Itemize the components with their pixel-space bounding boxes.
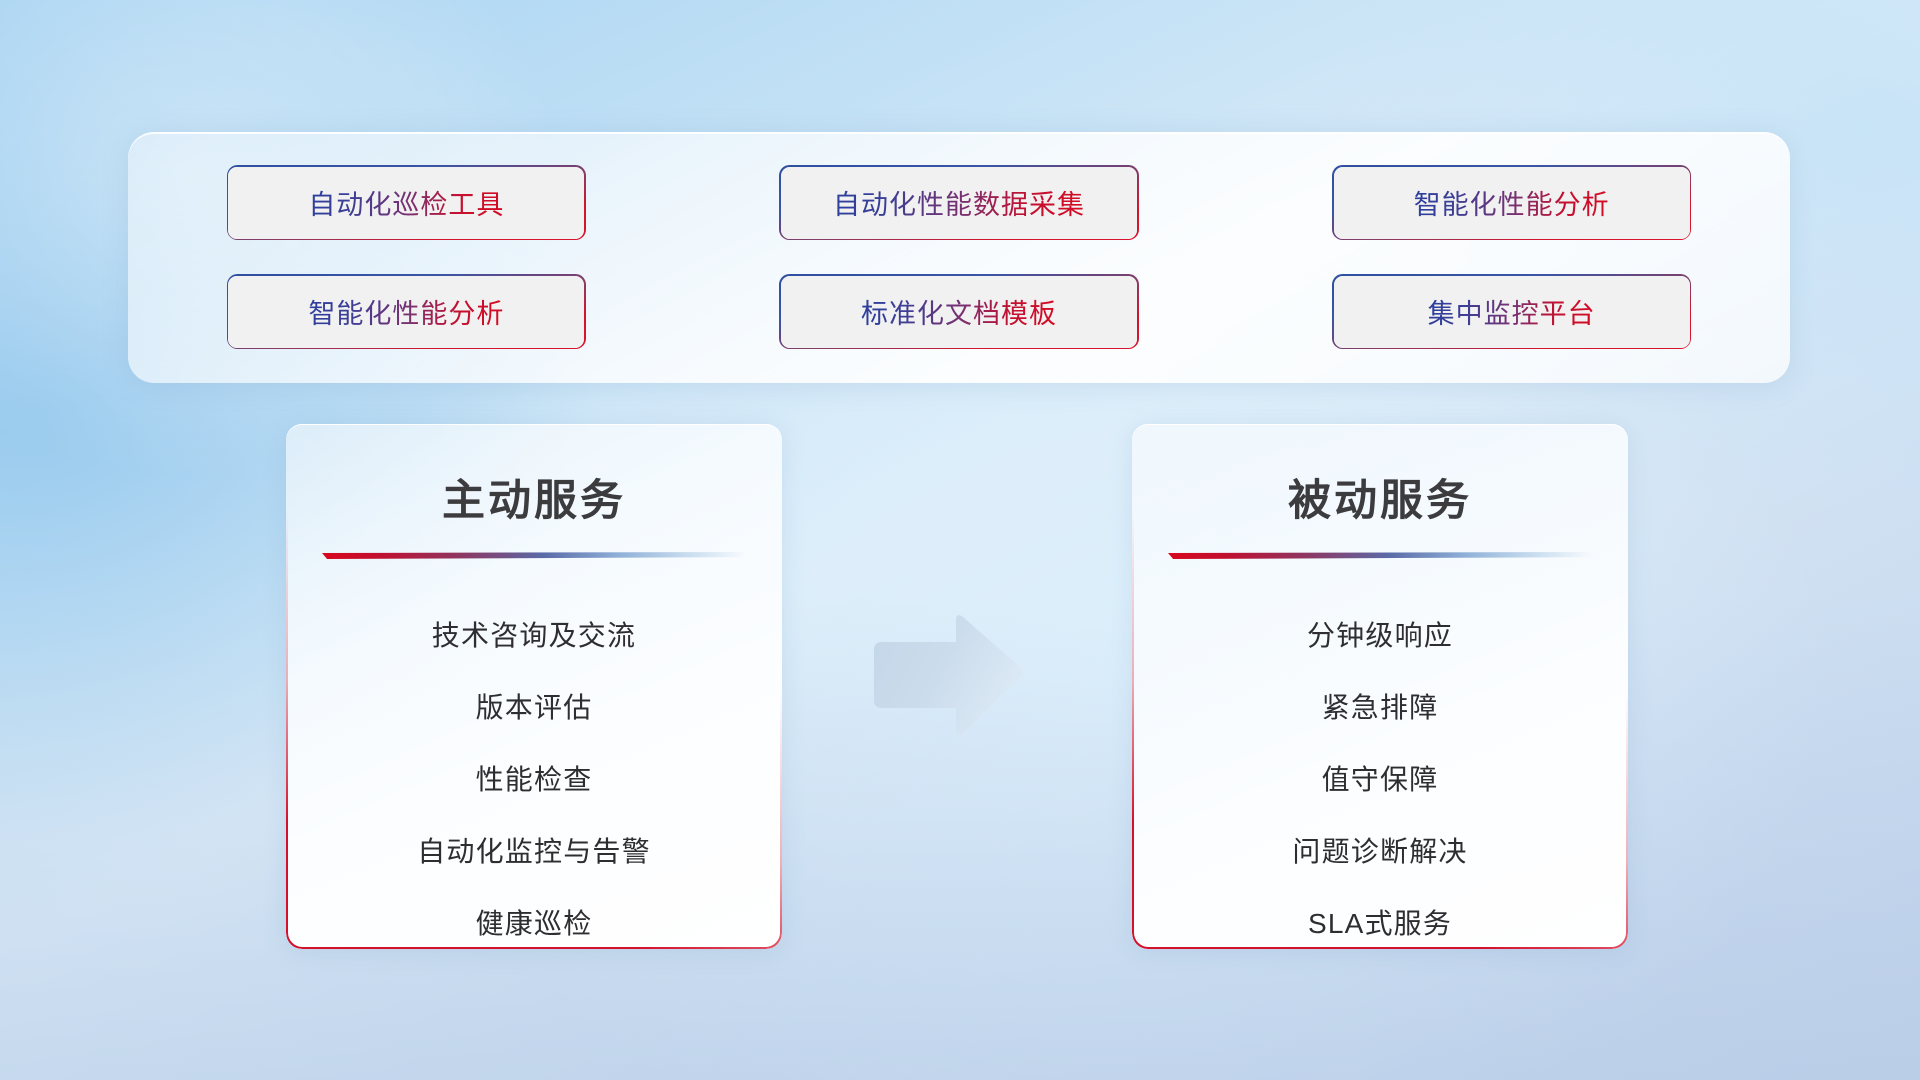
capability-pill[interactable]: 智能化性能分析	[228, 276, 584, 348]
capability-pill-label: 自动化性能数据采集	[833, 183, 1085, 222]
capability-pill[interactable]: 自动化巡检工具	[228, 167, 584, 239]
list-item: 问题诊断解决	[1292, 816, 1467, 888]
service-card-active[interactable]: 主动服务 技术咨询及交流 版本评估 性能检查 自动化监控与告警 健康巡检	[286, 424, 782, 949]
capability-pill-label: 自动化巡检工具	[308, 183, 504, 222]
capability-pill-grid: 自动化巡检工具 自动化性能数据采集 智能化性能分析 智能化性能分析 标准化文档模…	[128, 133, 1790, 383]
right-arrow-icon	[868, 612, 1028, 738]
card-item-list: 分钟级响应 紧急排障 值守保障 问题诊断解决 SLA式服务	[1132, 590, 1628, 925]
capability-pill-label: 集中监控平台	[1428, 292, 1596, 331]
list-item: 值守保障	[1322, 744, 1439, 816]
list-item: 健康巡检	[476, 888, 593, 949]
capability-pill-label: 智能化性能分析	[308, 292, 504, 331]
list-item: 自动化监控与告警	[417, 816, 651, 888]
list-item: 紧急排障	[1322, 672, 1439, 744]
card-title: 被动服务	[1132, 466, 1628, 528]
list-item: 性能检查	[476, 744, 593, 816]
capability-pills-panel: 自动化巡检工具 自动化性能数据采集 智能化性能分析 智能化性能分析 标准化文档模…	[128, 132, 1790, 383]
capability-pill[interactable]: 标准化文档模板	[781, 276, 1137, 348]
card-title: 主动服务	[286, 466, 782, 528]
list-item: 分钟级响应	[1307, 600, 1453, 672]
service-card-passive[interactable]: 被动服务 分钟级响应 紧急排障 值守保障 问题诊断解决 SLA式服务	[1132, 424, 1628, 949]
card-divider	[322, 552, 746, 559]
list-item: SLA式服务	[1308, 888, 1452, 949]
list-item: 版本评估	[476, 672, 593, 744]
capability-pill[interactable]: 自动化性能数据采集	[781, 167, 1137, 239]
card-divider	[1168, 552, 1592, 559]
list-item: 技术咨询及交流	[432, 600, 636, 672]
capability-pill-label: 标准化文档模板	[861, 292, 1057, 331]
capability-pill-label: 智能化性能分析	[1414, 183, 1610, 222]
card-item-list: 技术咨询及交流 版本评估 性能检查 自动化监控与告警 健康巡检	[286, 590, 782, 925]
capability-pill[interactable]: 智能化性能分析	[1334, 167, 1690, 239]
capability-pill[interactable]: 集中监控平台	[1334, 276, 1690, 348]
